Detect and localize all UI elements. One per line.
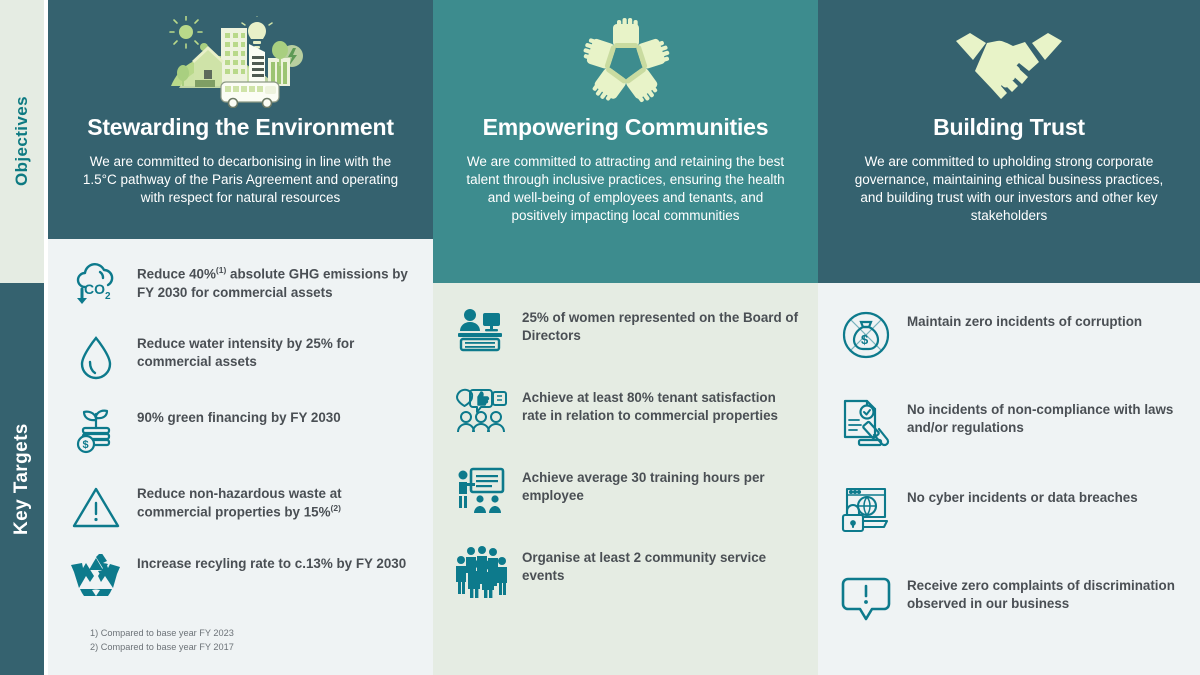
target-text: Achieve average 30 training hours per em… [522,463,802,505]
esg-objectives-board: Objectives Key Targets [0,0,1200,675]
rail-label-key-targets: Key Targets [0,283,44,675]
pillar-column-communities: Empowering Communities We are committed … [433,0,818,675]
rail-label-objectives: Objectives [0,0,44,283]
handshake-icon [954,14,1064,110]
pillar-header-trust: Building Trust We are committed to uphol… [818,0,1200,283]
tenant-satisfaction-feedback-icon [453,383,509,439]
training-presentation-icon [453,463,509,519]
key-targets-environment: CO 2 Reduce 40%(1) absolute GHG emission… [48,239,433,675]
pillar-description-trust: We are committed to upholding strong cor… [849,153,1169,225]
target-text: Achieve at least 80% tenant satisfaction… [522,383,802,425]
target-item: 25% of women represented on the Board of… [453,303,802,359]
warning-triangle-icon [68,479,124,535]
target-item: Achieve at least 80% tenant satisfaction… [453,383,802,439]
svg-text:CO: CO [84,281,105,297]
no-corruption-money-bag-icon: $ [838,307,894,363]
pillar-description-environment: We are committed to decarbonising in lin… [81,153,401,207]
target-text: Reduce non-hazardous waste at commercial… [137,479,417,521]
water-droplet-icon [68,329,124,385]
svg-text:2: 2 [105,291,111,302]
target-text: 25% of women represented on the Board of… [522,303,802,345]
target-item: Receive zero complaints of discriminatio… [838,571,1184,627]
pillar-title-communities: Empowering Communities [483,114,769,140]
target-item: $ Maintain zero incidents of corruption [838,307,1184,363]
target-text: Reduce 40%(1) absolute GHG emissions by … [137,259,417,301]
target-text: Reduce water intensity by 25% for commer… [137,329,417,371]
target-item: No cyber incidents or data breaches [838,483,1184,539]
target-item: Organise at least 2 community service ev… [453,543,802,599]
target-text: Organise at least 2 community service ev… [522,543,802,585]
pillar-title-environment: Stewarding the Environment [87,114,394,140]
recycling-icon [68,549,124,605]
cyber-security-lock-globe-icon [838,483,894,539]
svg-text:$: $ [83,439,89,451]
board-director-desk-icon [453,303,509,359]
target-item: Increase recyling rate to c.13% by FY 20… [68,549,417,605]
co2-cloud-down-arrow-icon: CO 2 [68,259,124,315]
legal-compliance-gavel-document-icon [838,395,894,451]
key-targets-communities: 25% of women represented on the Board of… [433,283,818,675]
green-city-illustration-icon [161,14,321,110]
target-item: No incidents of non-compliance with laws… [838,395,1184,451]
five-hands-circle-icon [580,14,672,110]
footnote-item: 2) Compared to base year FY 2017 [90,641,417,655]
target-text: No cyber incidents or data breaches [907,483,1138,507]
target-item: Reduce water intensity by 25% for commer… [68,329,417,385]
pillar-description-communities: We are committed to attracting and retai… [466,153,786,225]
target-text: Receive zero complaints of discriminatio… [907,571,1184,613]
target-text: No incidents of non-compliance with laws… [907,395,1184,437]
pillar-title-trust: Building Trust [933,114,1085,140]
section-rail: Objectives Key Targets [0,0,44,675]
green-financing-plant-coins-icon: $ [68,403,124,459]
target-item: $ 90% green financing by FY 2030 [68,403,417,459]
target-text: Maintain zero incidents of corruption [907,307,1142,331]
complaint-exclamation-bubble-icon [838,571,894,627]
pillar-columns: Stewarding the Environment We are commit… [48,0,1200,675]
target-text: Increase recyling rate to c.13% by FY 20… [137,549,406,573]
community-group-people-icon [453,543,509,599]
footnotes: 1) Compared to base year FY 2023 2) Comp… [68,627,417,669]
pillar-header-environment: Stewarding the Environment We are commit… [48,0,433,239]
target-text: 90% green financing by FY 2030 [137,403,341,427]
pillar-header-communities: Empowering Communities We are committed … [433,0,818,283]
pillar-column-environment: Stewarding the Environment We are commit… [48,0,433,675]
svg-text:$: $ [861,332,869,347]
pillar-column-trust: Building Trust We are committed to uphol… [818,0,1200,675]
target-item: CO 2 Reduce 40%(1) absolute GHG emission… [68,259,417,315]
footnote-item: 1) Compared to base year FY 2023 [90,627,417,641]
target-item: Reduce non-hazardous waste at commercial… [68,479,417,535]
target-item: Achieve average 30 training hours per em… [453,463,802,519]
key-targets-trust: $ Maintain zero incidents of corruption [818,283,1200,675]
